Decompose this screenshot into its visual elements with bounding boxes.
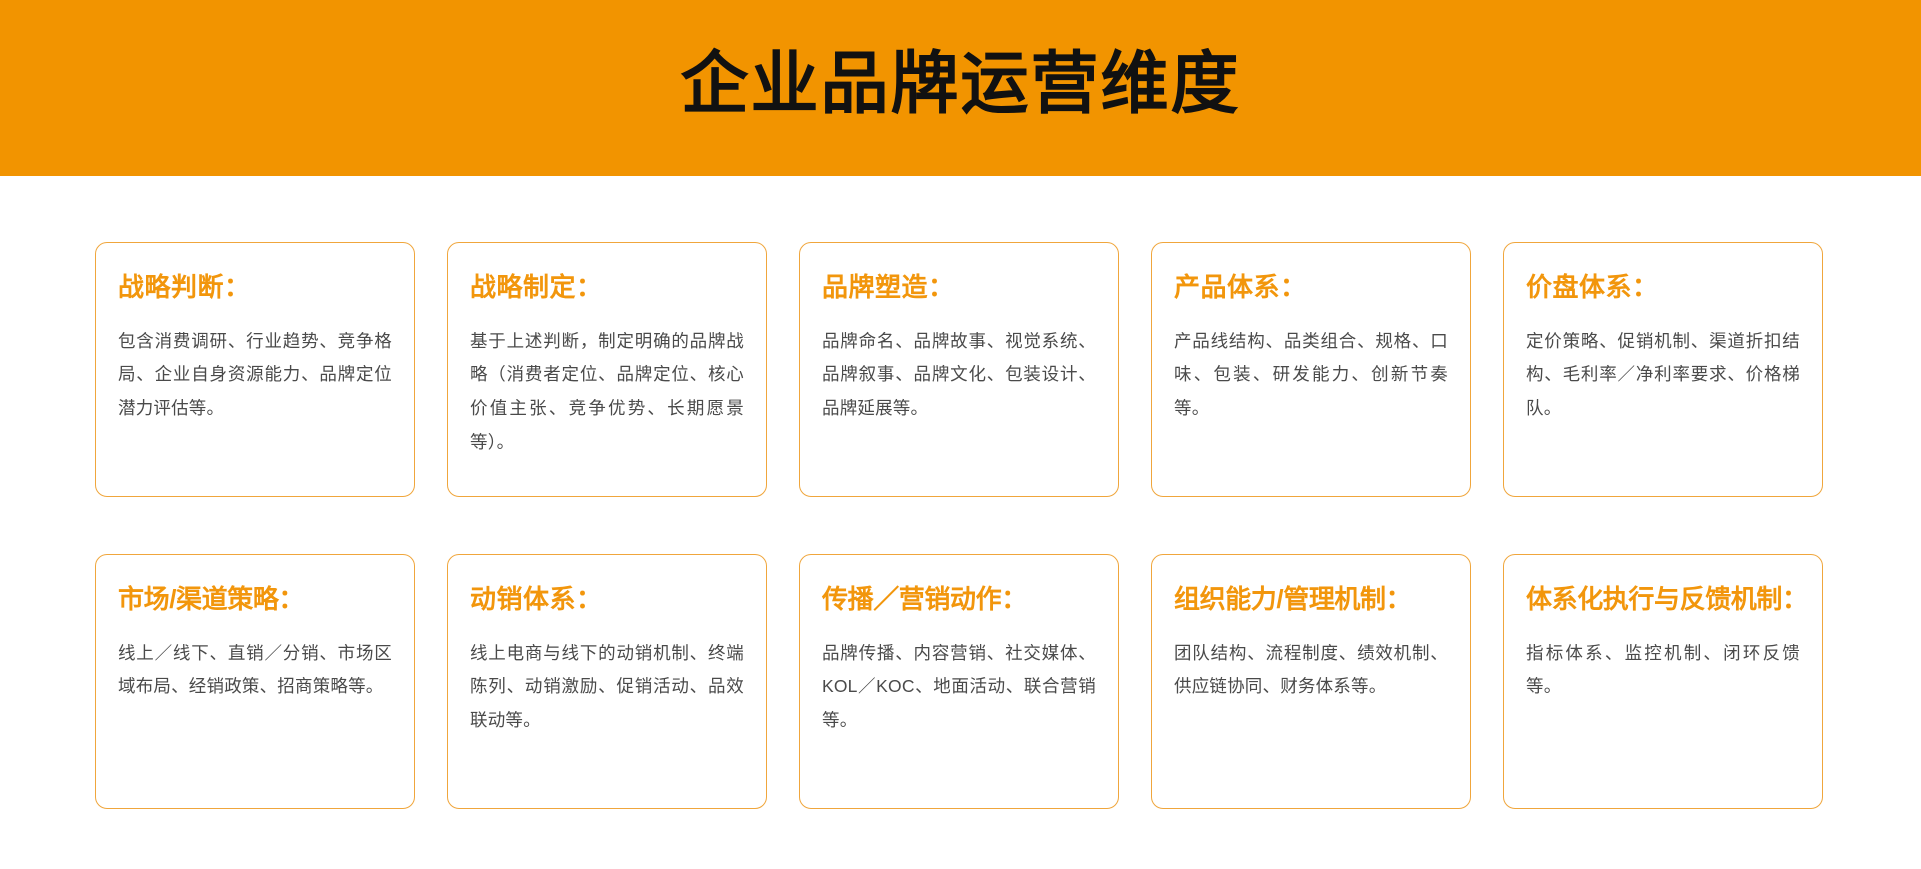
card-body: 团队结构、流程制度、绩效机制、供应链协同、财务体系等。	[1174, 637, 1448, 704]
card-grid: 战略判断： 包含消费调研、行业趋势、竞争格局、企业自身资源能力、品牌定位潜力评估…	[95, 242, 1827, 809]
card-title: 动销体系：	[470, 585, 744, 615]
card-body: 基于上述判断，制定明确的品牌战略（消费者定位、品牌定位、核心价值主张、竞争优势、…	[470, 325, 744, 459]
card-communication-marketing-actions[interactable]: 传播／营销动作： 品牌传播、内容营销、社交媒体、KOL／KOC、地面活动、联合营…	[799, 554, 1119, 809]
card-row-top: 战略判断： 包含消费调研、行业趋势、竞争格局、企业自身资源能力、品牌定位潜力评估…	[95, 242, 1827, 497]
card-body: 包含消费调研、行业趋势、竞争格局、企业自身资源能力、品牌定位潜力评估等。	[118, 325, 392, 426]
card-systematic-execution-feedback[interactable]: 体系化执行与反馈机制： 指标体系、监控机制、闭环反馈等。	[1503, 554, 1823, 809]
card-body: 指标体系、监控机制、闭环反馈等。	[1526, 637, 1800, 704]
card-body: 品牌传播、内容营销、社交媒体、KOL／KOC、地面活动、联合营销等。	[822, 637, 1096, 738]
card-title: 战略制定：	[470, 273, 744, 303]
card-row-bottom: 市场/渠道策略： 线上／线下、直销／分销、市场区域布局、经销政策、招商策略等。 …	[95, 554, 1827, 809]
card-title: 组织能力/管理机制：	[1174, 585, 1448, 615]
card-price-system[interactable]: 价盘体系： 定价策略、促销机制、渠道折扣结构、毛利率／净利率要求、价格梯队。	[1503, 242, 1823, 497]
card-body: 产品线结构、品类组合、规格、口味、包装、研发能力、创新节奏等。	[1174, 325, 1448, 426]
card-sales-activation-system[interactable]: 动销体系： 线上电商与线下的动销机制、终端陈列、动销激励、促销活动、品效联动等。	[447, 554, 767, 809]
card-market-channel-strategy[interactable]: 市场/渠道策略： 线上／线下、直销／分销、市场区域布局、经销政策、招商策略等。	[95, 554, 415, 809]
card-strategic-judgement[interactable]: 战略判断： 包含消费调研、行业趋势、竞争格局、企业自身资源能力、品牌定位潜力评估…	[95, 242, 415, 497]
header-banner: 企业品牌运营维度	[0, 0, 1921, 176]
card-organizational-capability[interactable]: 组织能力/管理机制： 团队结构、流程制度、绩效机制、供应链协同、财务体系等。	[1151, 554, 1471, 809]
card-title: 品牌塑造：	[822, 273, 1096, 303]
card-title: 传播／营销动作：	[822, 585, 1096, 615]
card-strategy-formulation[interactable]: 战略制定： 基于上述判断，制定明确的品牌战略（消费者定位、品牌定位、核心价值主张…	[447, 242, 767, 497]
card-title: 战略判断：	[118, 273, 392, 303]
card-title: 市场/渠道策略：	[118, 585, 392, 615]
card-body: 线上／线下、直销／分销、市场区域布局、经销政策、招商策略等。	[118, 637, 392, 704]
card-brand-building[interactable]: 品牌塑造： 品牌命名、品牌故事、视觉系统、品牌叙事、品牌文化、包装设计、品牌延展…	[799, 242, 1119, 497]
page-title: 企业品牌运营维度	[680, 50, 1240, 118]
card-title: 产品体系：	[1174, 273, 1448, 303]
card-title: 价盘体系：	[1526, 273, 1800, 303]
card-body: 品牌命名、品牌故事、视觉系统、品牌叙事、品牌文化、包装设计、品牌延展等。	[822, 325, 1096, 426]
card-body: 线上电商与线下的动销机制、终端陈列、动销激励、促销活动、品效联动等。	[470, 637, 744, 738]
card-title: 体系化执行与反馈机制：	[1526, 585, 1800, 615]
card-product-system[interactable]: 产品体系： 产品线结构、品类组合、规格、口味、包装、研发能力、创新节奏等。	[1151, 242, 1471, 497]
card-body: 定价策略、促销机制、渠道折扣结构、毛利率／净利率要求、价格梯队。	[1526, 325, 1800, 426]
infographic-page: 企业品牌运营维度 战略判断： 包含消费调研、行业趋势、竞争格局、企业自身资源能力…	[0, 0, 1921, 869]
